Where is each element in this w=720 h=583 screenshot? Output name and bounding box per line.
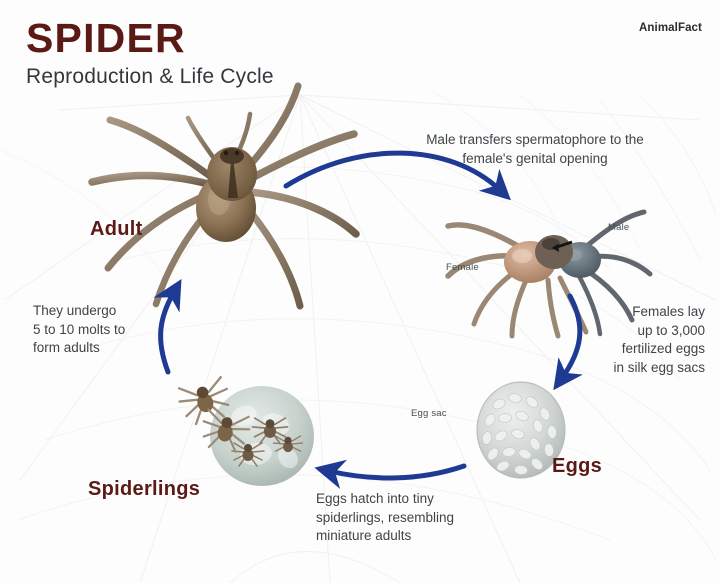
description-mating: Male transfers spermatophore to the fema…: [385, 131, 685, 168]
callout-female: Female: [446, 262, 479, 273]
spiderlings-figure: [176, 376, 314, 486]
description-hatching: Eggs hatch into tiny spiderlings, resemb…: [316, 490, 546, 546]
arrow-mating-to-eggs: [562, 296, 580, 378]
spiderling-on-sac: [232, 418, 302, 466]
description-molting: They undergo 5 to 10 molts to form adult…: [33, 302, 183, 358]
page-title: SPIDER: [26, 18, 274, 59]
stage-label-eggs: Eggs: [552, 455, 602, 478]
stage-label-adult: Adult: [90, 218, 143, 241]
callout-male: Male: [608, 222, 629, 233]
adult-spider-figure: [92, 86, 356, 306]
arrow-eggs-to-spiderlings: [329, 466, 464, 478]
stage-label-spiderlings: Spiderlings: [88, 478, 200, 501]
description-laying: Females lay up to 3,000 fertilized eggs …: [585, 303, 705, 378]
page-subtitle: Reproduction & Life Cycle: [26, 65, 274, 89]
callout-egg-sac: Egg sac: [411, 408, 447, 419]
spiderling-escaping: [176, 376, 251, 453]
infographic-canvas: SPIDER Reproduction & Life Cycle AnimalF…: [0, 0, 720, 583]
header: SPIDER Reproduction & Life Cycle: [26, 18, 274, 89]
brand-logo: AnimalFact: [639, 22, 702, 34]
